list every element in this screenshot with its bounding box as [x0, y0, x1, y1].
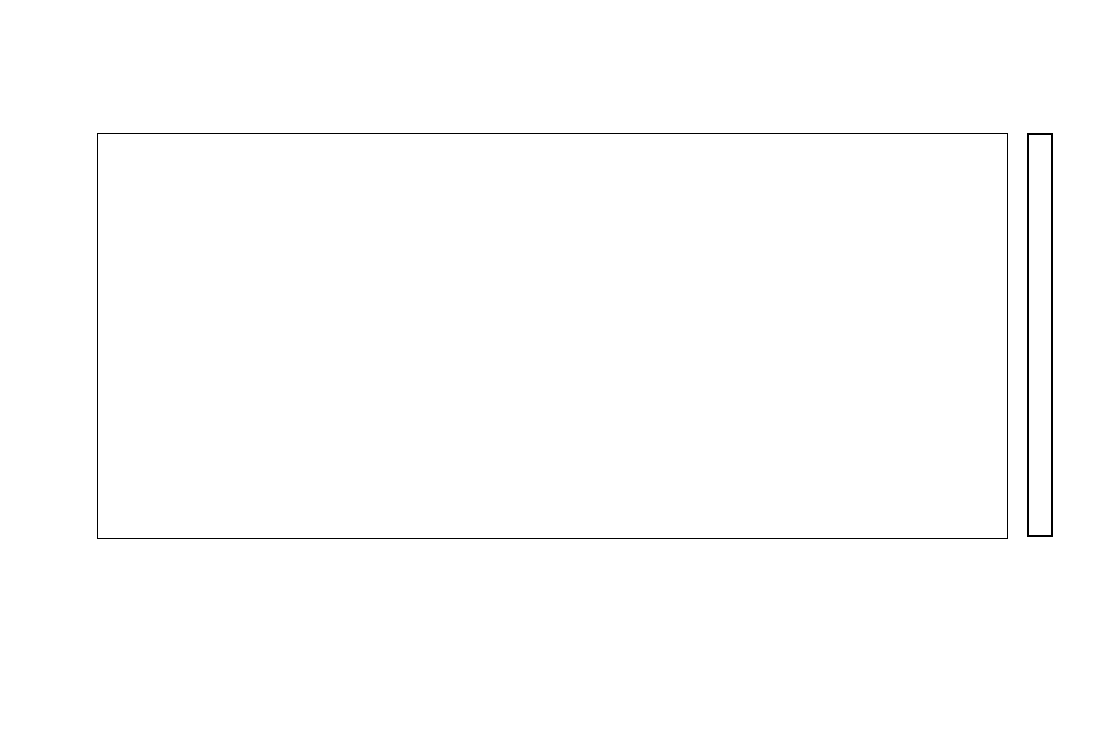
salinity-heatmap	[98, 134, 1007, 538]
colorbar-gradient	[1029, 135, 1051, 535]
heatmap-plot-area	[97, 133, 1008, 539]
colorbar	[1027, 133, 1053, 537]
figure-canvas	[0, 0, 1100, 750]
